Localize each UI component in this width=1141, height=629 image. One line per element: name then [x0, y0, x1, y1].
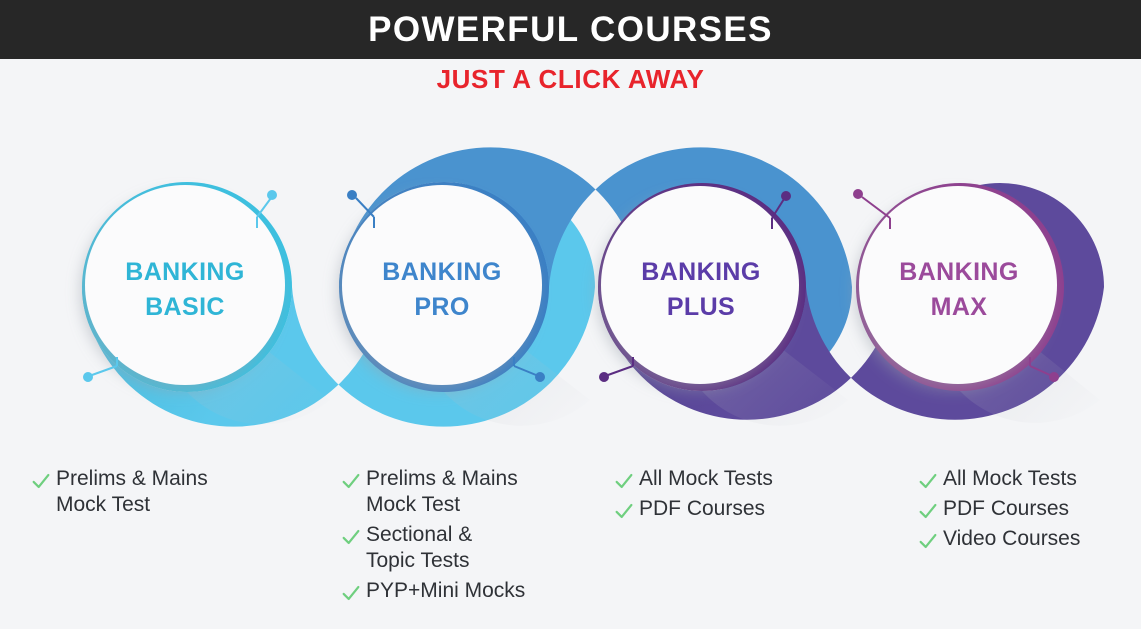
- list-item: Sectional & Topic Tests: [340, 522, 600, 574]
- list-item: PYP+Mini Mocks: [340, 578, 600, 604]
- feature-text: All Mock Tests: [943, 466, 1077, 492]
- check-icon: [917, 470, 939, 492]
- feature-text: Prelims & Mains Mock Test: [366, 466, 518, 518]
- feature-text: PDF Courses: [639, 496, 765, 522]
- feature-text: Sectional & Topic Tests: [366, 522, 472, 574]
- feature-text: Video Courses: [943, 526, 1080, 552]
- feature-text: All Mock Tests: [639, 466, 773, 492]
- course-circle-max[interactable]: [856, 183, 1064, 391]
- feature-column-plus: All Mock Tests PDF Courses: [613, 466, 863, 526]
- header-bar: POWERFUL COURSES: [0, 0, 1141, 59]
- list-item: PDF Courses: [917, 496, 1141, 522]
- page-title: POWERFUL COURSES: [368, 12, 773, 47]
- list-item: PDF Courses: [613, 496, 863, 522]
- list-item: Prelims & Mains Mock Test: [340, 466, 600, 518]
- check-icon: [917, 500, 939, 522]
- check-icon: [340, 582, 362, 604]
- feature-text: PYP+Mini Mocks: [366, 578, 525, 604]
- list-item: All Mock Tests: [613, 466, 863, 492]
- feature-column-max: All Mock Tests PDF Courses Video Courses: [917, 466, 1141, 556]
- feature-text: PDF Courses: [943, 496, 1069, 522]
- check-icon: [340, 470, 362, 492]
- check-icon: [613, 500, 635, 522]
- check-icon: [340, 526, 362, 548]
- check-icon: [917, 530, 939, 552]
- list-item: All Mock Tests: [917, 466, 1141, 492]
- check-icon: [613, 470, 635, 492]
- feature-column-basic: Prelims & Mains Mock Test: [30, 466, 280, 522]
- feature-text: Prelims & Mains Mock Test: [56, 466, 208, 518]
- feature-column-pro: Prelims & Mains Mock Test Sectional & To…: [340, 466, 600, 608]
- feature-lists: Prelims & Mains Mock Test Prelims & Main…: [0, 466, 1141, 629]
- list-item: Video Courses: [917, 526, 1141, 552]
- infographic-canvas: BANKING BASIC BANKING PRO BANKING PLUS B…: [0, 0, 1141, 629]
- page-subtitle: JUST A CLICK AWAY: [0, 66, 1141, 92]
- check-icon: [30, 470, 52, 492]
- list-item: Prelims & Mains Mock Test: [30, 466, 280, 518]
